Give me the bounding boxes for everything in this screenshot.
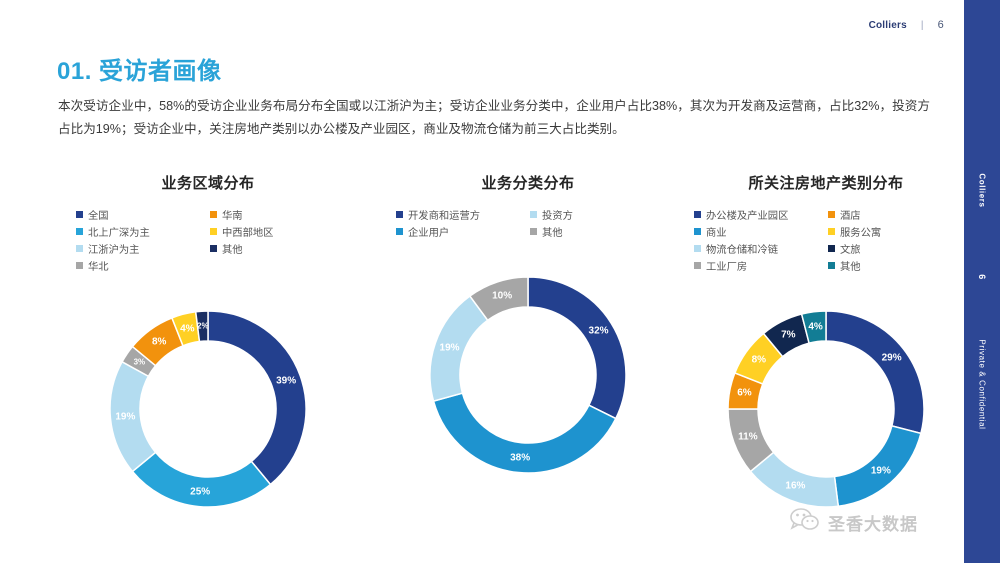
legend-item: 工业厂房 — [694, 258, 824, 273]
watermark: 圣香大数据 — [790, 508, 918, 537]
rail-page-number: 6 — [977, 274, 987, 280]
legend-label: 商业 — [706, 224, 727, 239]
donut-slice — [430, 296, 488, 401]
legend-label: 全国 — [88, 207, 109, 222]
legend-item: 办公楼及产业园区 — [694, 207, 824, 222]
legend-label: 华北 — [88, 258, 109, 273]
legend-label: 酒店 — [840, 207, 861, 222]
chart-title: 所关注房地产类别分布 — [676, 172, 976, 193]
legend-swatch-icon — [694, 262, 701, 269]
legend-item: 服务公寓 — [828, 224, 958, 239]
legend-item: 其他 — [828, 258, 958, 273]
page-header: Colliers | 6 — [869, 19, 944, 31]
legend-item: 酒店 — [828, 207, 958, 222]
chart-title: 业务区域分布 — [58, 172, 358, 193]
chart-legend: 全国北上广深为主江浙沪为主华北华南中西部地区其他 — [58, 207, 358, 273]
chart-property-type-distribution: 所关注房地产类别分布 办公楼及产业园区商业物流仓储和冷链工业厂房酒店服务公寓文旅… — [676, 172, 976, 541]
legend-label: 其他 — [542, 224, 563, 239]
wechat-icon — [790, 508, 820, 537]
chart-business-category-distribution: 业务分类分布 开发商和运营方企业用户投资方其他 32%38%19%10% — [378, 172, 678, 507]
donut-slice — [132, 452, 270, 507]
header-page-number: 6 — [938, 19, 944, 31]
chart-business-region-distribution: 业务区域分布 全国北上广深为主江浙沪为主华北华南中西部地区其他 39%25%19… — [58, 172, 358, 541]
legend-item: 其他 — [530, 224, 660, 239]
legend-item: 文旅 — [828, 241, 958, 256]
legend-item: 华南 — [210, 207, 340, 222]
legend-item: 物流仓储和冷链 — [694, 241, 824, 256]
legend-swatch-icon — [210, 245, 217, 252]
legend-swatch-icon — [76, 211, 83, 218]
legend-label: 工业厂房 — [706, 258, 747, 273]
legend-item: 华北 — [76, 258, 206, 273]
donut-slice — [528, 277, 626, 419]
legend-swatch-icon — [828, 211, 835, 218]
donut-chart: 29%19%16%11%6%8%7%4% — [676, 281, 976, 541]
donut-slice — [434, 393, 616, 473]
legend-item: 商业 — [694, 224, 824, 239]
donut-slice — [110, 362, 156, 472]
legend-label: 办公楼及产业园区 — [706, 207, 788, 222]
legend-swatch-icon — [396, 211, 403, 218]
legend-label: 服务公寓 — [840, 224, 881, 239]
legend-item: 北上广深为主 — [76, 224, 206, 239]
donut-slice — [208, 311, 306, 485]
legend-item: 中西部地区 — [210, 224, 340, 239]
donut-slice — [835, 426, 921, 506]
legend-swatch-icon — [694, 211, 701, 218]
rail-brand: Colliers — [978, 173, 987, 207]
legend-item: 其他 — [210, 241, 340, 256]
chart-legend: 办公楼及产业园区商业物流仓储和冷链工业厂房酒店服务公寓文旅其他 — [676, 207, 976, 273]
legend-swatch-icon — [530, 211, 537, 218]
page-title: 01. 受访者画像 — [57, 51, 222, 86]
legend-swatch-icon — [210, 228, 217, 235]
donut-slice — [826, 311, 924, 433]
legend-swatch-icon — [210, 211, 217, 218]
legend-label: 华南 — [222, 207, 243, 222]
body-paragraph: 本次受访企业中，58%的受访企业业务布局分布全国或以江浙沪为主；受访企业业务分类… — [58, 95, 930, 142]
legend-swatch-icon — [694, 228, 701, 235]
legend-swatch-icon — [694, 245, 701, 252]
watermark-text: 圣香大数据 — [828, 510, 918, 535]
legend-item: 全国 — [76, 207, 206, 222]
legend-swatch-icon — [396, 228, 403, 235]
rail-confidential: Private & Confidential — [978, 339, 987, 429]
chart-title: 业务分类分布 — [378, 172, 678, 193]
legend-swatch-icon — [76, 262, 83, 269]
donut-chart: 39%25%19%3%8%4%2% — [58, 281, 358, 541]
legend-item: 开发商和运营方 — [396, 207, 526, 222]
legend-swatch-icon — [828, 245, 835, 252]
legend-swatch-icon — [828, 262, 835, 269]
chart-legend: 开发商和运营方企业用户投资方其他 — [378, 207, 678, 239]
side-rail: Colliers 6 Private & Confidential — [964, 0, 1000, 563]
legend-label: 北上广深为主 — [88, 224, 150, 239]
legend-label: 投资方 — [542, 207, 573, 222]
legend-item: 江浙沪为主 — [76, 241, 206, 256]
header-brand: Colliers — [869, 20, 907, 31]
header-separator: | — [921, 20, 924, 31]
slide-page: Colliers | 6 01. 受访者画像 本次受访企业中，58%的受访企业业… — [0, 0, 1000, 563]
donut-chart: 32%38%19%10% — [378, 247, 678, 507]
legend-label: 企业用户 — [408, 224, 449, 239]
legend-swatch-icon — [76, 228, 83, 235]
legend-label: 其他 — [840, 258, 861, 273]
legend-swatch-icon — [530, 228, 537, 235]
legend-swatch-icon — [828, 228, 835, 235]
legend-label: 文旅 — [840, 241, 861, 256]
legend-label: 江浙沪为主 — [88, 241, 139, 256]
legend-swatch-icon — [76, 245, 83, 252]
legend-item: 企业用户 — [396, 224, 526, 239]
legend-label: 中西部地区 — [222, 224, 273, 239]
legend-label: 开发商和运营方 — [408, 207, 480, 222]
legend-label: 其他 — [222, 241, 243, 256]
legend-label: 物流仓储和冷链 — [706, 241, 778, 256]
legend-item: 投资方 — [530, 207, 660, 222]
